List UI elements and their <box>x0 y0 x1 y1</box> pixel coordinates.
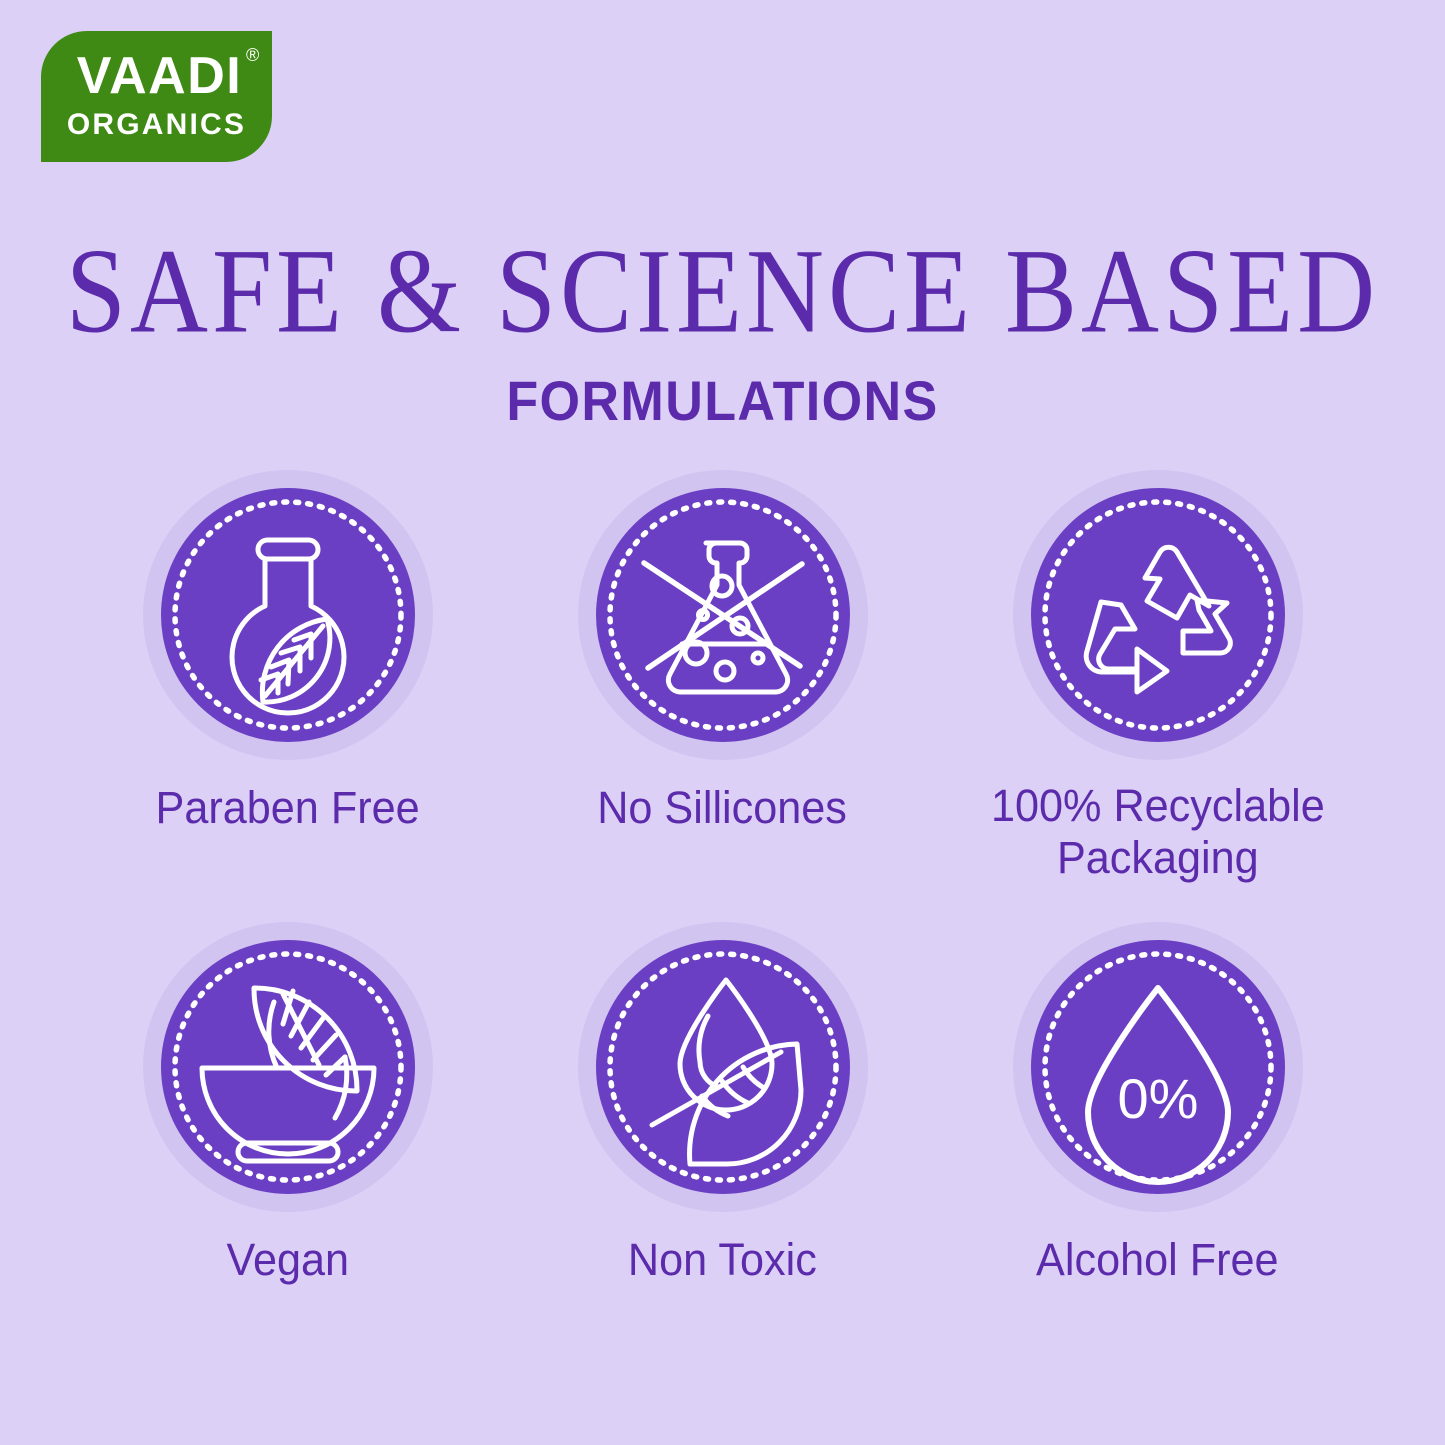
recycling-icon <box>1031 488 1285 742</box>
page-title: SAFE & SCIENCE BASED <box>0 232 1445 353</box>
badge-label: Vegan <box>226 1234 349 1286</box>
brand-logo: VAADI® ORGANICS <box>41 31 272 162</box>
badge-circle <box>143 470 433 760</box>
badge-circle <box>578 470 868 760</box>
mortar-bowl-leaf-icon <box>161 940 415 1194</box>
badge-label-line-2: Packaging <box>991 832 1325 884</box>
badge-circle <box>1013 470 1303 760</box>
badge-alcohol-free: 0% Alcohol Free <box>940 922 1375 1286</box>
badge-recyclable-packaging: 100% Recyclable Packaging <box>940 470 1375 884</box>
droplet-leaf-icon <box>596 940 850 1194</box>
badge-non-toxic: Non Toxic <box>505 922 940 1286</box>
logo-brand-name-text: VAADI <box>77 47 242 105</box>
badge-label: Non Toxic <box>628 1234 817 1286</box>
crossed-out-erlenmeyer-flask-icon <box>596 488 850 742</box>
badge-label: 100% Recyclable Packaging <box>991 780 1325 884</box>
badge-no-sillicones: No Sillicones <box>505 470 940 834</box>
droplet-percent-value: 0% <box>1117 1067 1198 1130</box>
badge-label: Paraben Free <box>155 782 419 834</box>
logo-brand-name: VAADI® <box>77 50 242 102</box>
badge-label: No Sillicones <box>598 782 848 834</box>
flask-leaf-icon <box>161 488 415 742</box>
badge-label: Alcohol Free <box>1036 1234 1279 1286</box>
badge-label-line-1: 100% Recyclable <box>991 780 1325 832</box>
badge-circle <box>578 922 868 1212</box>
registered-trademark-icon: ® <box>246 46 259 64</box>
droplet-zero-percent-icon: 0% <box>1031 940 1285 1194</box>
feature-badge-grid: Paraben Free <box>0 470 1445 1285</box>
logo-subtitle: ORGANICS <box>67 110 246 140</box>
badge-paraben-free: Paraben Free <box>70 470 505 834</box>
badge-row-top: Paraben Free <box>0 470 1445 884</box>
badge-row-bottom: Vegan <box>0 922 1445 1286</box>
page-subtitle: FORMULATIONS <box>51 373 1395 429</box>
badge-circle <box>143 922 433 1212</box>
badge-vegan: Vegan <box>70 922 505 1286</box>
badge-circle: 0% <box>1013 922 1303 1212</box>
